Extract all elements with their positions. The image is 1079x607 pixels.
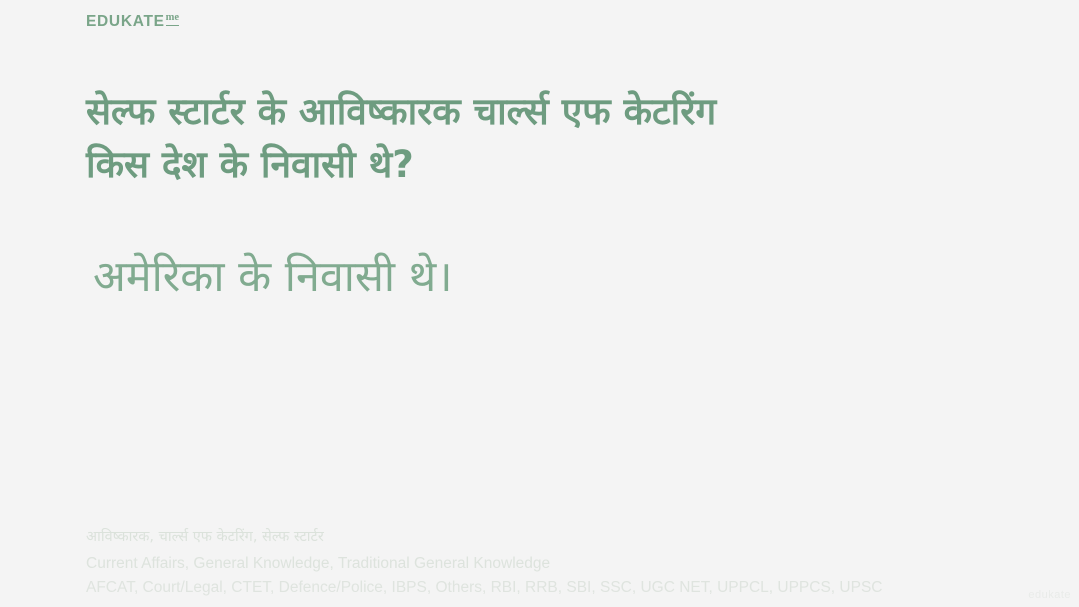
footer-categories[interactable]: Current Affairs, General Knowledge, Trad… [86, 556, 1066, 581]
footer-exam-list[interactable]: AFCAT, Court/Legal, CTET, Defence/Police… [86, 580, 1066, 596]
question-line-1: सेल्फ स्टार्टर के आविष्कारक चार्ल्स एफ क… [86, 86, 986, 139]
watermark-label: edukate [1028, 589, 1071, 601]
slide-canvas: EDUKATE me सेल्फ स्टार्टर के आविष्कारक च… [0, 0, 1079, 607]
answer-text: अमेरिका के निवासी थे। [93, 248, 993, 306]
footer-tags: आविष्कारक, चार्ल्स एफ केटरिंग, सेल्फ स्ट… [86, 530, 1066, 596]
question-line-2: किस देश के निवासी थे? [86, 139, 986, 192]
question-text: सेल्फ स्टार्टर के आविष्कारक चार्ल्स एफ क… [86, 86, 986, 191]
brand-logo-superscript: me [166, 13, 179, 26]
brand-logo[interactable]: EDUKATE me [86, 14, 179, 30]
footer-keywords-hindi[interactable]: आविष्कारक, चार्ल्स एफ केटरिंग, सेल्फ स्ट… [86, 530, 1066, 556]
brand-logo-wordmark: EDUKATE [86, 14, 165, 30]
